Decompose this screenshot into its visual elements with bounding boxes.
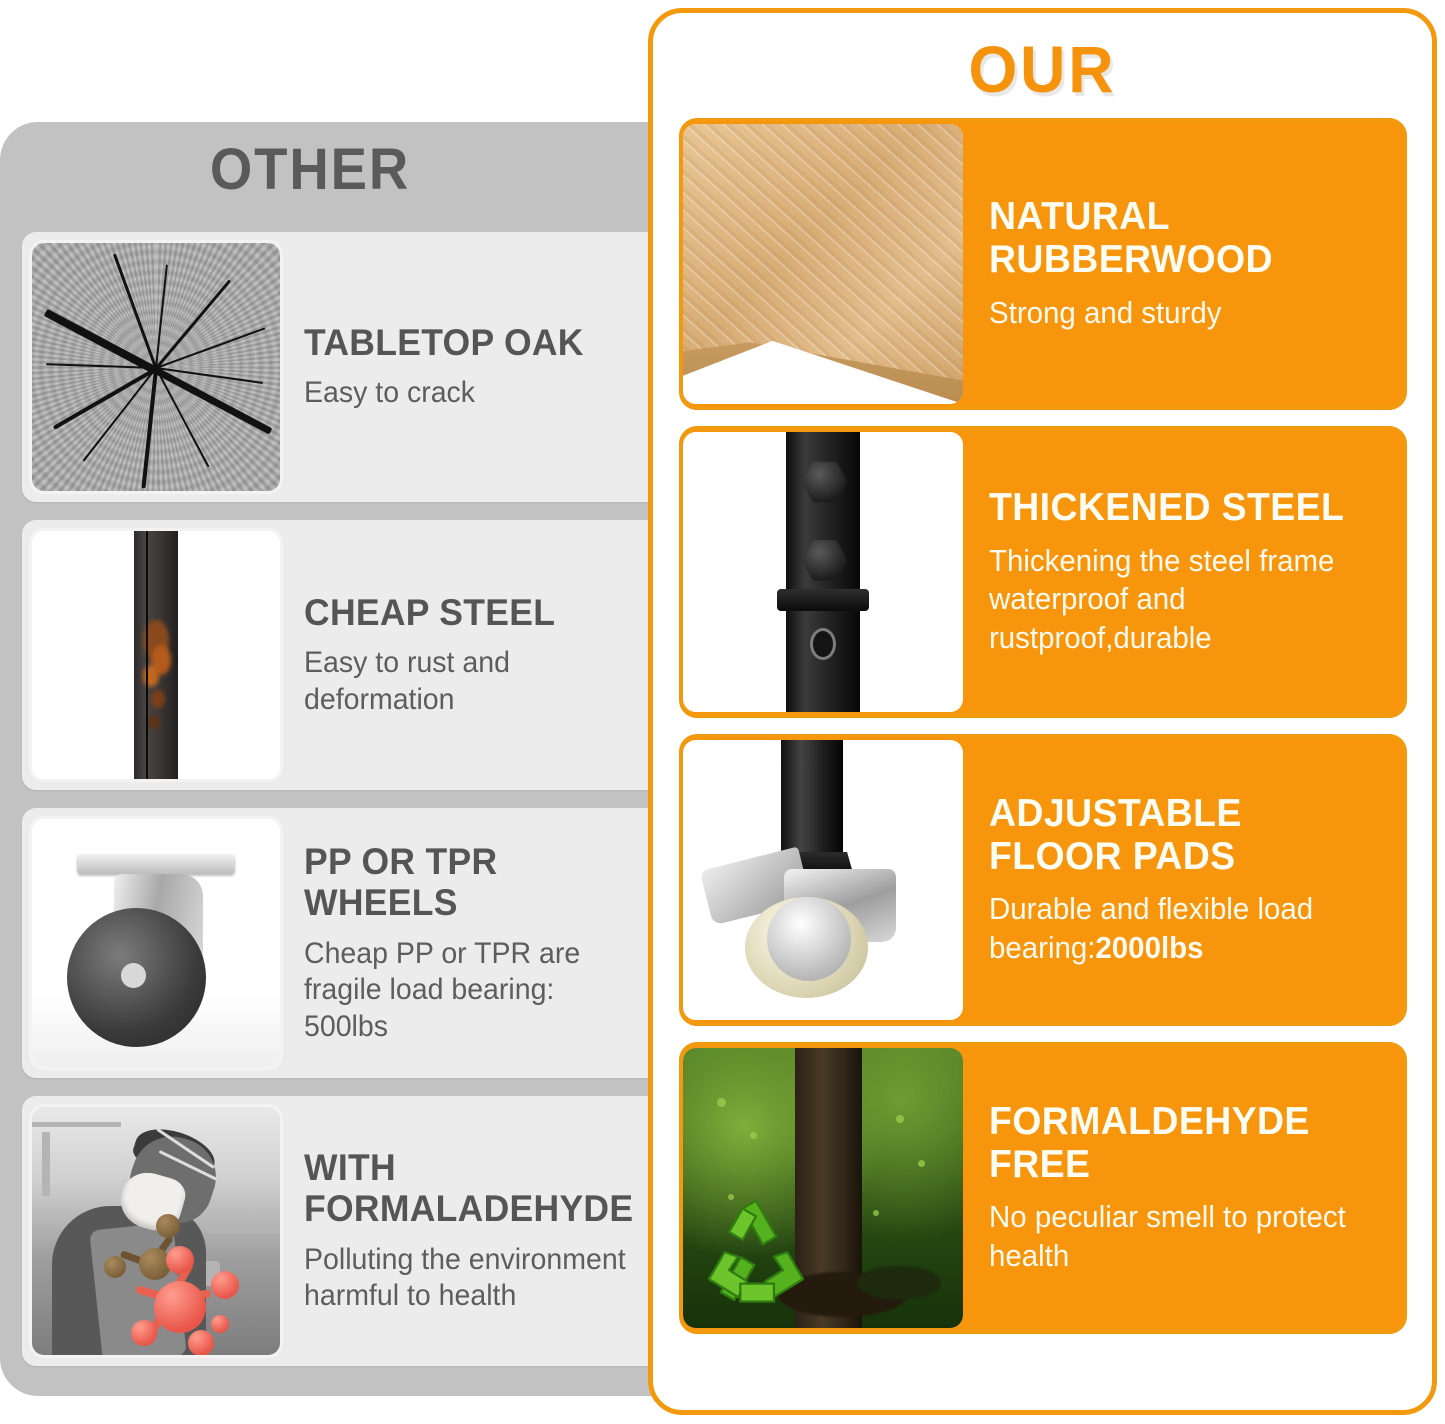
list-item-text: FORMALDEHYDE FREE No peculiar smell to p… [963, 1101, 1403, 1276]
list-item-description: Polluting the environment harmful to hea… [304, 1242, 633, 1315]
other-feature-list: TABLETOP OAK Easy to crack CHEAP STEEL E… [22, 232, 660, 1384]
list-item-heading: FORMALDEHYDE FREE [989, 1101, 1373, 1187]
list-item-heading: CHEAP STEEL [304, 592, 636, 633]
list-item-text: WITH FORMALADEHYDE Polluting the environ… [280, 1147, 660, 1315]
other-panel-title: OTHER [19, 136, 602, 203]
worker-formaldehyde-icon [32, 1107, 280, 1355]
our-feature-list: NATURAL RUBBERWOOD Strong and sturdy THI… [679, 118, 1407, 1350]
list-item-text: TABLETOP OAK Easy to crack [280, 322, 660, 412]
list-item-text: THICKENED STEEL Thickening the steel fra… [963, 487, 1403, 657]
list-item-heading: NATURAL RUBBERWOOD [989, 196, 1373, 282]
list-item: NATURAL RUBBERWOOD Strong and sturdy [679, 118, 1407, 410]
list-item-description: No peculiar smell to protect health [989, 1198, 1369, 1275]
list-item-heading: PP OR TPR WHEELS [304, 841, 636, 924]
list-item-description: Cheap PP or TPR are fragile load bearing… [304, 936, 633, 1046]
caster-wheel-icon [32, 819, 280, 1067]
our-panel-title: OUR [672, 31, 1412, 107]
list-item-text: ADJUSTABLE FLOOR PADS Durable and flexib… [963, 793, 1403, 968]
list-item: FORMALDEHYDE FREE No peculiar smell to p… [679, 1042, 1407, 1334]
our-comparison-panel: OUR NATURAL RUBBERWOOD Strong and sturdy [648, 8, 1437, 1415]
list-item-description: Easy to crack [304, 375, 633, 412]
rubberwood-tabletop-icon [683, 124, 963, 404]
list-item: CHEAP STEEL Easy to rust and deformation [22, 520, 660, 790]
cracked-oak-log-icon [32, 243, 280, 491]
list-item: THICKENED STEEL Thickening the steel fra… [679, 426, 1407, 718]
list-item-description: Thickening the steel frame waterproof an… [989, 542, 1369, 657]
list-item-text: CHEAP STEEL Easy to rust and deformation [280, 592, 660, 719]
list-item: PP OR TPR WHEELS Cheap PP or TPR are fra… [22, 808, 660, 1078]
description-text: Strong and sturdy [989, 295, 1221, 330]
list-item: ADJUSTABLE FLOOR PADS Durable and flexib… [679, 734, 1407, 1026]
list-item-description: Easy to rust and deformation [304, 645, 633, 718]
black-steel-post-icon [683, 432, 963, 712]
list-item-text: NATURAL RUBBERWOOD Strong and sturdy [963, 196, 1403, 332]
other-comparison-panel: OTHER TABLETOP OAK Easy to crac [0, 122, 660, 1396]
list-item-text: PP OR TPR WHEELS Cheap PP or TPR are fra… [280, 841, 660, 1046]
list-item: WITH FORMALADEHYDE Polluting the environ… [22, 1096, 660, 1366]
forest-recycle-icon [683, 1048, 963, 1328]
locking-caster-icon [683, 740, 963, 1020]
list-item-heading: ADJUSTABLE FLOOR PADS [989, 793, 1373, 879]
description-text: Thickening the steel frame waterproof an… [989, 543, 1334, 655]
rusty-steel-bar-icon [32, 531, 280, 779]
list-item: TABLETOP OAK Easy to crack [22, 232, 660, 502]
description-text: No peculiar smell to protect health [989, 1199, 1346, 1272]
list-item-description: Strong and sturdy [989, 294, 1369, 332]
list-item-heading: WITH FORMALADEHYDE [304, 1147, 636, 1230]
list-item-heading: THICKENED STEEL [989, 487, 1373, 530]
description-emphasis: 2000lbs [1095, 930, 1203, 965]
list-item-heading: TABLETOP OAK [304, 322, 636, 363]
list-item-description: Durable and flexible load bearing:2000lb… [989, 890, 1369, 967]
recycle-icon [700, 1194, 812, 1306]
